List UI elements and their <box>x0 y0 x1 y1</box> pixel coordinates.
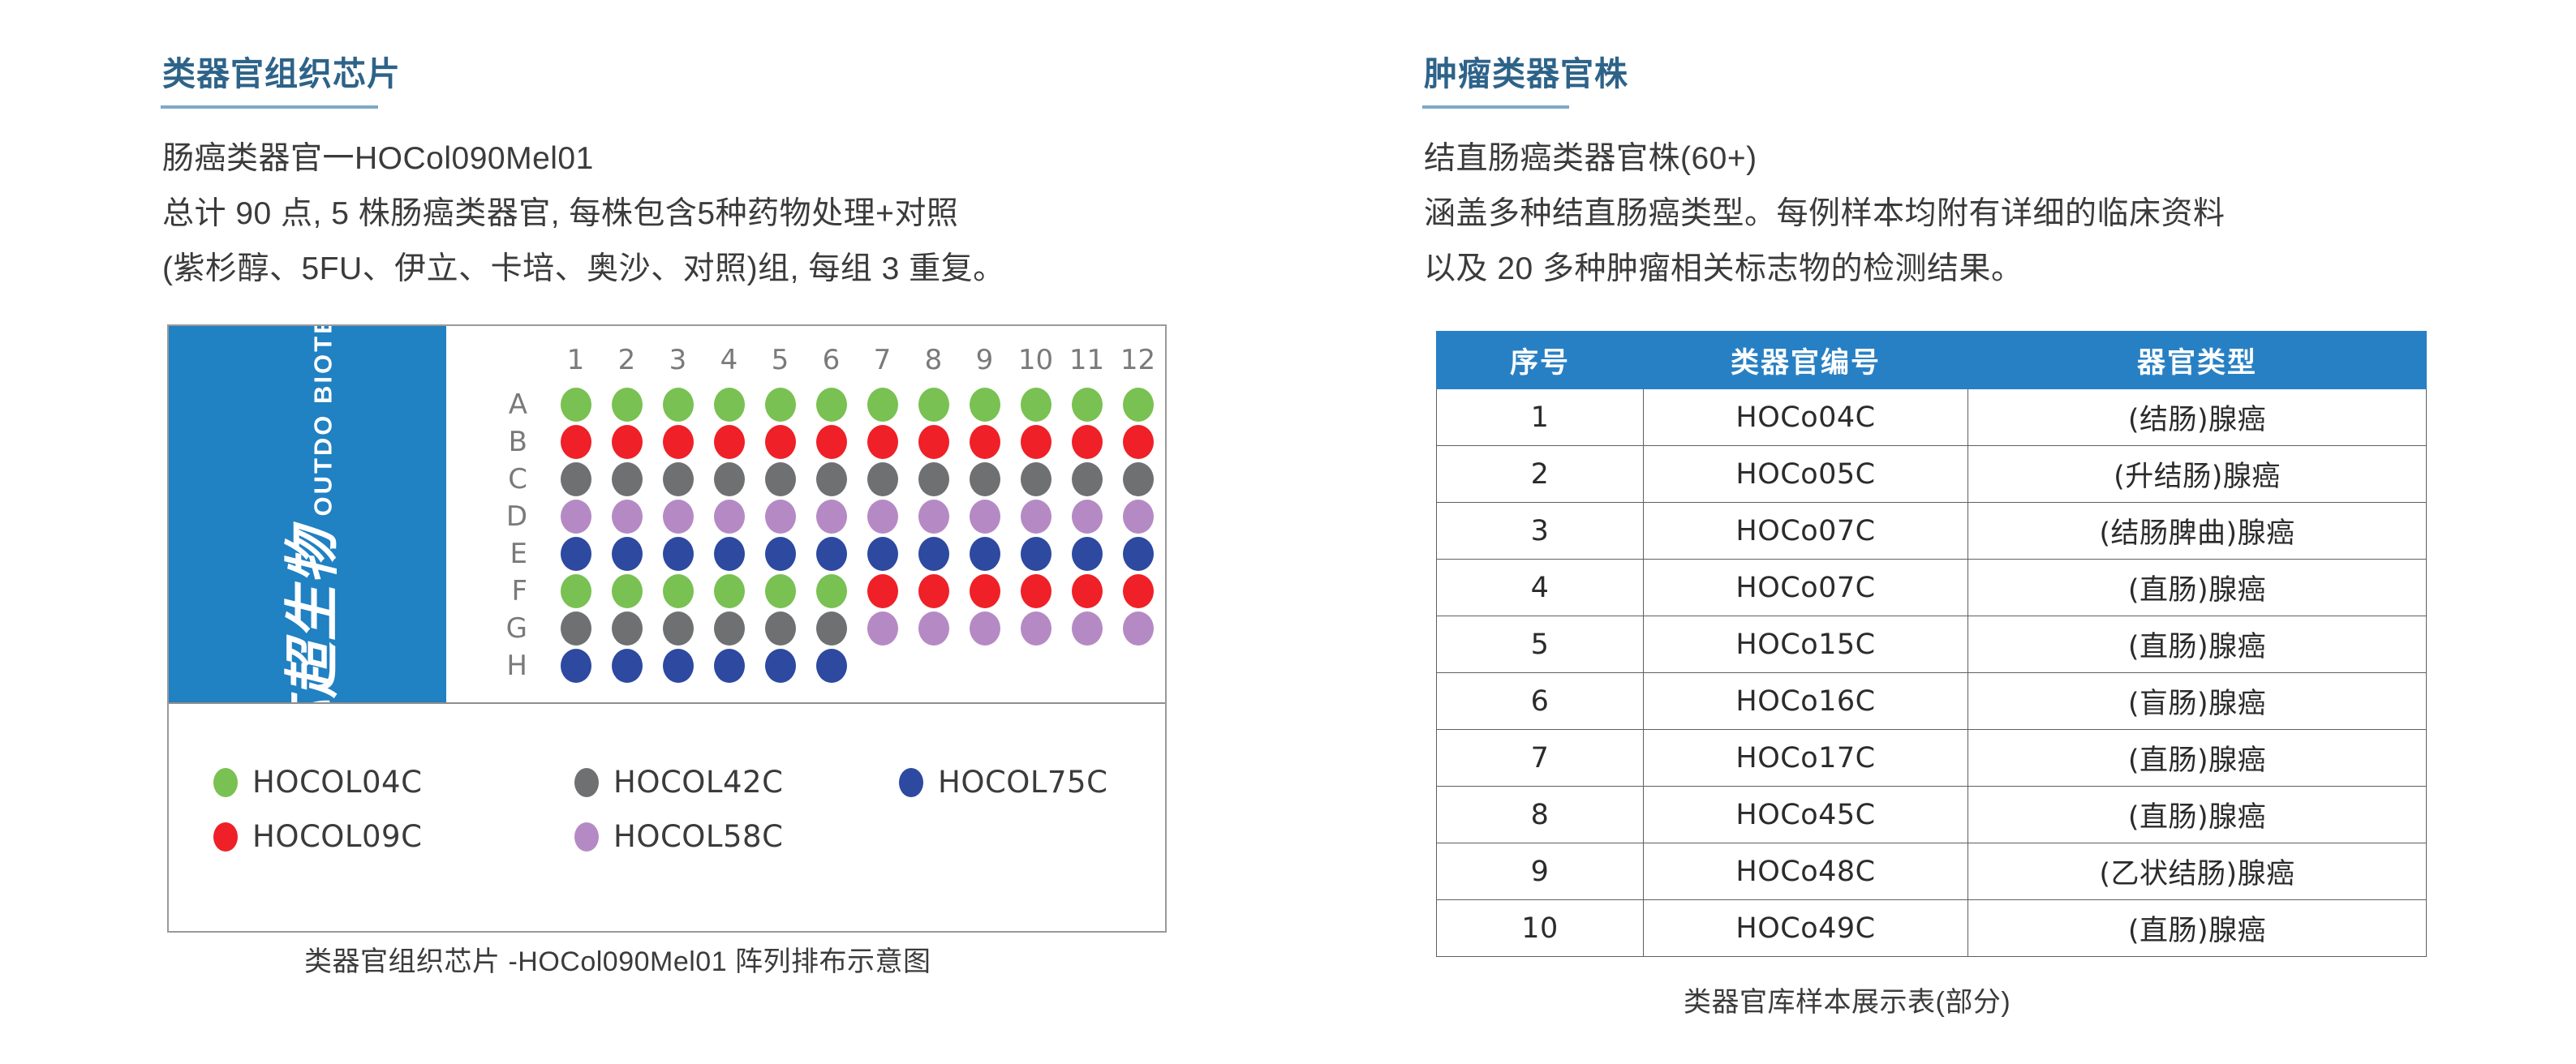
plate-row-G: G <box>446 610 1163 647</box>
plate-well-cell <box>703 537 755 571</box>
plate-well-cell <box>1061 574 1112 608</box>
plate-well-B10[interactable] <box>1021 425 1051 459</box>
logo-rotated-wordmark: 芯超生物 OUTDO BIOTECH <box>268 326 348 702</box>
plate-well-cell <box>550 425 601 459</box>
plate-well-cell <box>550 537 601 571</box>
plate-well-cell <box>550 574 601 608</box>
right-body-line-2: 涵盖多种结直肠癌类型。每例样本均附有详细的临床资料 <box>1424 188 2226 234</box>
plate-well-E6[interactable] <box>816 537 847 571</box>
plate-well-cell <box>755 611 806 646</box>
table-cell: HOCo48C <box>1644 843 1968 900</box>
logo-chinese-name: 芯超生物 <box>268 528 348 702</box>
plate-well-D1[interactable] <box>561 500 591 534</box>
plate-well-A2[interactable] <box>612 388 643 422</box>
poster-page: 类器官组织芯片 肠癌类器官一HOCol090Mel01 总计 90 点, 5 株… <box>0 0 2576 1064</box>
table-cell: (直肠)腺癌 <box>1968 730 2427 787</box>
plate-well-B11[interactable] <box>1072 425 1103 459</box>
left-panel: 类器官组织芯片 肠癌类器官一HOCol090Mel01 总计 90 点, 5 株… <box>0 0 1266 1064</box>
plate-well-cell <box>1010 537 1061 571</box>
plate-well-F3[interactable] <box>663 574 694 608</box>
plate-well-cell <box>755 462 806 496</box>
table-cell: (升结肠)腺癌 <box>1968 446 2427 503</box>
plate-well-cell <box>857 388 908 422</box>
plate-well-H4[interactable] <box>714 649 745 683</box>
plate-well-F8[interactable] <box>918 574 949 608</box>
plate-well-D4[interactable] <box>714 500 745 534</box>
table-cell: (结肠)腺癌 <box>1968 389 2427 446</box>
table-cell: 9 <box>1437 843 1644 900</box>
plate-well-cell <box>1112 537 1163 571</box>
plate-well-F5[interactable] <box>765 574 796 608</box>
plate-well-D3[interactable] <box>663 500 694 534</box>
plate-well-A11[interactable] <box>1072 388 1103 422</box>
table-cell: HOCo07C <box>1644 503 1968 560</box>
plate-well-G4[interactable] <box>714 611 745 646</box>
legend-label: HOCOL75C <box>938 765 1107 800</box>
plate-well-cell <box>857 611 908 646</box>
plate-well-cell <box>652 388 703 422</box>
right-caption: 类器官库样本展示表(部分) <box>1684 980 2010 1019</box>
plate-col-label-6: 6 <box>806 344 857 376</box>
plate-row-label-D: D <box>446 500 550 533</box>
plate-well-B4[interactable] <box>714 425 745 459</box>
plate-well-cell <box>806 462 857 496</box>
plate-well-E7[interactable] <box>867 537 898 571</box>
plate-well-cell <box>652 537 703 571</box>
plate-grid: 123456789101112 ABCDEFGH <box>446 326 1165 702</box>
plate-col-label-1: 1 <box>550 344 601 376</box>
plate-row-label-G: G <box>446 612 550 645</box>
plate-well-A9[interactable] <box>970 388 1000 422</box>
table-row[interactable]: 3HOCo07C(结肠脾曲)腺癌 <box>1437 503 2427 560</box>
plate-well-cell <box>652 462 703 496</box>
plate-well-cell <box>857 462 908 496</box>
plate-well-cell <box>601 649 652 683</box>
plate-well-cell <box>703 500 755 534</box>
right-title-underline <box>1422 105 1569 109</box>
right-body-line-3: 以及 20 多种肿瘤相关标志物的检测结果。 <box>1424 243 2023 289</box>
table-cell: 5 <box>1437 616 1644 673</box>
plate-well-cell <box>601 388 652 422</box>
plate-well-E5[interactable] <box>765 537 796 571</box>
table-cell: HOCo07C <box>1644 560 1968 616</box>
plate-col-label-7: 7 <box>857 344 908 376</box>
plate-well-C7[interactable] <box>867 462 898 496</box>
left-caption: 类器官组织芯片 -HOCol090Mel01 阵列排布示意图 <box>304 939 931 979</box>
plate-well-cell <box>959 574 1010 608</box>
legend-label: HOCOL09C <box>252 819 422 854</box>
plate-well-cell <box>857 537 908 571</box>
table-header-row: 序号类器官编号器官类型 <box>1437 332 2427 389</box>
plate-row-B: B <box>446 423 1163 461</box>
legend-label: HOCOL42C <box>613 765 783 800</box>
plate-well-cell <box>755 649 806 683</box>
plate-well-cell <box>806 611 857 646</box>
plate-column-headers: 123456789101112 <box>550 344 1163 376</box>
plate-well-cell <box>1010 425 1061 459</box>
table-row[interactable]: 7HOCo17C(直肠)腺癌 <box>1437 730 2427 787</box>
plate-well-cell <box>601 425 652 459</box>
table-cell: HOCo15C <box>1644 616 1968 673</box>
plate-well-G11[interactable] <box>1072 611 1103 646</box>
table-row[interactable]: 4HOCo07C(直肠)腺癌 <box>1437 560 2427 616</box>
plate-well-B1[interactable] <box>561 425 591 459</box>
plate-col-label-12: 12 <box>1112 344 1163 376</box>
plate-well-G10[interactable] <box>1021 611 1051 646</box>
plate-well-cell <box>755 388 806 422</box>
plate-well-cell <box>755 574 806 608</box>
plate-top-section: 芯超生物 OUTDO BIOTECH 123456789101112 ABCDE… <box>169 326 1165 704</box>
table-cell: (直肠)腺癌 <box>1968 787 2427 843</box>
plate-well-F6[interactable] <box>816 574 847 608</box>
legend-item-HOCOL42C: HOCOL42C <box>574 765 783 800</box>
plate-well-D5[interactable] <box>765 500 796 534</box>
plate-well-cell <box>1112 500 1163 534</box>
plate-row-A: A <box>446 386 1163 423</box>
plate-well-H6[interactable] <box>816 649 847 683</box>
plate-well-cell <box>1010 574 1061 608</box>
plate-well-B12[interactable] <box>1123 425 1154 459</box>
plate-well-G2[interactable] <box>612 611 643 646</box>
plate-well-A12[interactable] <box>1123 388 1154 422</box>
plate-well-cell <box>806 537 857 571</box>
plate-well-cell <box>601 574 652 608</box>
plate-row-D: D <box>446 498 1163 535</box>
table-cell: (乙状结肠)腺癌 <box>1968 843 2427 900</box>
table-cell: HOCo16C <box>1644 673 1968 730</box>
plate-well-F7[interactable] <box>867 574 898 608</box>
plate-well-cell <box>703 462 755 496</box>
plate-well-cell <box>703 574 755 608</box>
plate-well-cell <box>908 388 959 422</box>
table-cell: HOCo45C <box>1644 787 1968 843</box>
plate-well-G8[interactable] <box>918 611 949 646</box>
plate-well-cell <box>857 425 908 459</box>
plate-well-B2[interactable] <box>612 425 643 459</box>
plate-well-A8[interactable] <box>918 388 949 422</box>
table-cell: 7 <box>1437 730 1644 787</box>
plate-legend: HOCOL04CHOCOL09CHOCOL42CHOCOL58CHOCOL75C <box>169 704 1165 931</box>
table-row[interactable]: 2HOCo05C(升结肠)腺癌 <box>1437 446 2427 503</box>
plate-well-D8[interactable] <box>918 500 949 534</box>
plate-well-F4[interactable] <box>714 574 745 608</box>
table-cell: 2 <box>1437 446 1644 503</box>
plate-well-H2[interactable] <box>612 649 643 683</box>
plate-well-cell <box>908 500 959 534</box>
legend-item-HOCOL04C: HOCOL04C <box>213 765 422 800</box>
plate-well-cell <box>652 649 703 683</box>
legend-dot-icon <box>899 768 923 797</box>
plate-well-E12[interactable] <box>1123 537 1154 571</box>
plate-well-C11[interactable] <box>1072 462 1103 496</box>
plate-well-cell <box>959 425 1010 459</box>
plate-well-C3[interactable] <box>663 462 694 496</box>
organoid-table: 序号类器官编号器官类型 1HOCo04C(结肠)腺癌2HOCo05C(升结肠)腺… <box>1436 331 2427 957</box>
plate-well-E3[interactable] <box>663 537 694 571</box>
plate-well-C10[interactable] <box>1021 462 1051 496</box>
plate-well-cell <box>703 611 755 646</box>
plate-well-G9[interactable] <box>970 611 1000 646</box>
plate-well-cell <box>601 611 652 646</box>
plate-well-cell <box>550 500 601 534</box>
plate-well-D11[interactable] <box>1072 500 1103 534</box>
plate-well-H5[interactable] <box>765 649 796 683</box>
table-column-header: 类器官编号 <box>1644 332 1968 389</box>
table-cell: HOCo17C <box>1644 730 1968 787</box>
plate-well-cell <box>550 611 601 646</box>
plate-well-C9[interactable] <box>970 462 1000 496</box>
plate-well-C8[interactable] <box>918 462 949 496</box>
plate-well-cell <box>959 500 1010 534</box>
plate-well-cell <box>550 649 601 683</box>
plate-well-B3[interactable] <box>663 425 694 459</box>
plate-well-cell <box>703 425 755 459</box>
plate-well-G5[interactable] <box>765 611 796 646</box>
legend-dot-icon <box>213 822 238 852</box>
plate-well-cell <box>1112 425 1163 459</box>
plate-row-label-H: H <box>446 650 550 682</box>
plate-well-cell <box>959 462 1010 496</box>
plate-well-cell <box>1061 500 1112 534</box>
plate-col-label-10: 10 <box>1010 344 1061 376</box>
plate-well-cell <box>601 500 652 534</box>
plate-well-cell <box>550 388 601 422</box>
plate-col-label-9: 9 <box>959 344 1010 376</box>
plate-well-C6[interactable] <box>816 462 847 496</box>
plate-well-cell <box>550 462 601 496</box>
left-body-line-2: 总计 90 点, 5 株肠癌类器官, 每株包含5种药物处理+对照 <box>162 188 958 234</box>
table-cell: 10 <box>1437 900 1644 957</box>
plate-row-F: F <box>446 573 1163 610</box>
plate-well-F1[interactable] <box>561 574 591 608</box>
plate-well-D10[interactable] <box>1021 500 1051 534</box>
plate-well-E11[interactable] <box>1072 537 1103 571</box>
plate-well-cell <box>1061 537 1112 571</box>
plate-col-label-5: 5 <box>755 344 806 376</box>
plate-well-E10[interactable] <box>1021 537 1051 571</box>
plate-well-cell <box>908 425 959 459</box>
plate-row-label-B: B <box>446 426 550 458</box>
left-body-line-1: 肠癌类器官一HOCol090Mel01 <box>162 133 594 178</box>
left-body-line-3: (紫杉醇、5FU、伊立、卡培、奥沙、对照)组, 每组 3 重复。 <box>162 243 1005 289</box>
plate-row-H: H <box>446 647 1163 684</box>
plate-well-C5[interactable] <box>765 462 796 496</box>
plate-well-cell <box>1061 462 1112 496</box>
table-column-header: 器官类型 <box>1968 332 2427 389</box>
table-cell: 3 <box>1437 503 1644 560</box>
plate-well-cell <box>755 425 806 459</box>
plate-well-cell <box>1061 425 1112 459</box>
table-column-header: 序号 <box>1437 332 1644 389</box>
plate-row-label-E: E <box>446 538 550 570</box>
table-cell: (直肠)腺癌 <box>1968 560 2427 616</box>
plate-array-card: 芯超生物 OUTDO BIOTECH 123456789101112 ABCDE… <box>167 324 1167 933</box>
plate-well-D6[interactable] <box>816 500 847 534</box>
plate-well-C12[interactable] <box>1123 462 1154 496</box>
plate-well-E4[interactable] <box>714 537 745 571</box>
right-section-title: 肿瘤类器官株 <box>1424 46 1628 95</box>
plate-well-A10[interactable] <box>1021 388 1051 422</box>
plate-well-cell <box>959 388 1010 422</box>
right-body-line-1: 结直肠癌类器官株(60+) <box>1424 133 1757 178</box>
table-cell: (盲肠)腺癌 <box>1968 673 2427 730</box>
plate-well-cell <box>652 500 703 534</box>
legend-dot-icon <box>574 822 599 852</box>
plate-well-D12[interactable] <box>1123 500 1154 534</box>
plate-well-E8[interactable] <box>918 537 949 571</box>
plate-well-cell <box>601 462 652 496</box>
plate-well-cell <box>703 388 755 422</box>
plate-well-A7[interactable] <box>867 388 898 422</box>
left-title-underline <box>161 105 378 109</box>
plate-well-F10[interactable] <box>1021 574 1051 608</box>
table-cell: (直肠)腺癌 <box>1968 900 2427 957</box>
plate-well-F2[interactable] <box>612 574 643 608</box>
plate-well-cell <box>1010 611 1061 646</box>
plate-well-cell <box>806 649 857 683</box>
logo-english-name: OUTDO BIOTECH <box>309 326 338 517</box>
table-row[interactable]: 1HOCo04C(结肠)腺癌 <box>1437 389 2427 446</box>
table-cell: HOCo49C <box>1644 900 1968 957</box>
table-cell: 4 <box>1437 560 1644 616</box>
plate-well-F9[interactable] <box>970 574 1000 608</box>
legend-item-HOCOL58C: HOCOL58C <box>574 819 783 854</box>
plate-well-cell <box>1112 611 1163 646</box>
plate-well-G6[interactable] <box>816 611 847 646</box>
plate-well-cell <box>908 537 959 571</box>
plate-row-label-F: F <box>446 575 550 607</box>
plate-well-F12[interactable] <box>1123 574 1154 608</box>
plate-well-C4[interactable] <box>714 462 745 496</box>
plate-well-A6[interactable] <box>816 388 847 422</box>
table-cell: (直肠)腺癌 <box>1968 616 2427 673</box>
plate-well-B6[interactable] <box>816 425 847 459</box>
plate-well-C2[interactable] <box>612 462 643 496</box>
plate-well-G12[interactable] <box>1123 611 1154 646</box>
plate-well-E2[interactable] <box>612 537 643 571</box>
plate-well-G3[interactable] <box>663 611 694 646</box>
legend-label: HOCOL04C <box>252 765 422 800</box>
plate-well-cell <box>908 611 959 646</box>
plate-well-D2[interactable] <box>612 500 643 534</box>
plate-well-cell <box>1061 611 1112 646</box>
plate-well-cell <box>601 537 652 571</box>
plate-well-cell <box>755 500 806 534</box>
plate-well-H1[interactable] <box>561 649 591 683</box>
plate-well-cell <box>908 574 959 608</box>
plate-well-cell <box>652 611 703 646</box>
plate-well-E1[interactable] <box>561 537 591 571</box>
plate-well-cell <box>1112 574 1163 608</box>
plate-well-B7[interactable] <box>867 425 898 459</box>
plate-well-cell <box>652 574 703 608</box>
table-body: 1HOCo04C(结肠)腺癌2HOCo05C(升结肠)腺癌3HOCo07C(结肠… <box>1437 389 2427 957</box>
table-cell: (结肠脾曲)腺癌 <box>1968 503 2427 560</box>
plate-row-label-C: C <box>446 463 550 496</box>
plate-row-C: C <box>446 461 1163 498</box>
plate-well-cell <box>806 425 857 459</box>
plate-well-B9[interactable] <box>970 425 1000 459</box>
table-row[interactable]: 10HOCo49C(直肠)腺癌 <box>1437 900 2427 957</box>
plate-rows: ABCDEFGH <box>446 386 1163 684</box>
plate-well-C1[interactable] <box>561 462 591 496</box>
plate-well-cell <box>755 537 806 571</box>
table-row[interactable]: 9HOCo48C(乙状结肠)腺癌 <box>1437 843 2427 900</box>
plate-col-label-11: 11 <box>1061 344 1112 376</box>
table-cell: HOCo05C <box>1644 446 1968 503</box>
legend-label: HOCOL58C <box>613 819 783 854</box>
plate-well-cell <box>959 611 1010 646</box>
table-cell: HOCo04C <box>1644 389 1968 446</box>
plate-well-cell <box>959 537 1010 571</box>
legend-item-HOCOL09C: HOCOL09C <box>213 819 422 854</box>
plate-row-label-A: A <box>446 388 550 421</box>
left-section-title: 类器官组织芯片 <box>162 46 401 95</box>
plate-well-cell <box>857 574 908 608</box>
plate-well-H3[interactable] <box>663 649 694 683</box>
plate-well-A1[interactable] <box>561 388 591 422</box>
plate-col-label-3: 3 <box>652 344 703 376</box>
table-cell: 1 <box>1437 389 1644 446</box>
plate-well-G1[interactable] <box>561 611 591 646</box>
plate-col-label-2: 2 <box>601 344 652 376</box>
plate-col-label-4: 4 <box>703 344 755 376</box>
table-row[interactable]: 8HOCo45C(直肠)腺癌 <box>1437 787 2427 843</box>
plate-well-cell <box>703 649 755 683</box>
plate-well-D9[interactable] <box>970 500 1000 534</box>
table-cell: 6 <box>1437 673 1644 730</box>
legend-dot-icon <box>574 768 599 797</box>
plate-well-F11[interactable] <box>1072 574 1103 608</box>
plate-well-cell <box>1010 462 1061 496</box>
plate-well-cell <box>806 388 857 422</box>
plate-well-cell <box>652 425 703 459</box>
legend-dot-icon <box>213 768 238 797</box>
plate-well-cell <box>857 500 908 534</box>
plate-well-cell <box>1061 388 1112 422</box>
plate-well-A4[interactable] <box>714 388 745 422</box>
plate-well-D7[interactable] <box>867 500 898 534</box>
plate-well-cell <box>806 574 857 608</box>
legend-item-HOCOL75C: HOCOL75C <box>899 765 1107 800</box>
plate-well-B8[interactable] <box>918 425 949 459</box>
plate-well-A5[interactable] <box>765 388 796 422</box>
plate-well-cell <box>1010 388 1061 422</box>
plate-well-cell <box>1112 462 1163 496</box>
plate-well-cell <box>1010 500 1061 534</box>
plate-well-E9[interactable] <box>970 537 1000 571</box>
plate-well-A3[interactable] <box>663 388 694 422</box>
table-row[interactable]: 6HOCo16C(盲肠)腺癌 <box>1437 673 2427 730</box>
table-cell: 8 <box>1437 787 1644 843</box>
plate-row-E: E <box>446 535 1163 573</box>
outdo-biotech-logo: 芯超生物 OUTDO BIOTECH <box>169 326 446 702</box>
plate-well-B5[interactable] <box>765 425 796 459</box>
plate-well-G7[interactable] <box>867 611 898 646</box>
plate-well-cell <box>806 500 857 534</box>
plate-col-label-8: 8 <box>908 344 959 376</box>
plate-well-cell <box>908 462 959 496</box>
plate-well-cell <box>1112 388 1163 422</box>
table-row[interactable]: 5HOCo15C(直肠)腺癌 <box>1437 616 2427 673</box>
